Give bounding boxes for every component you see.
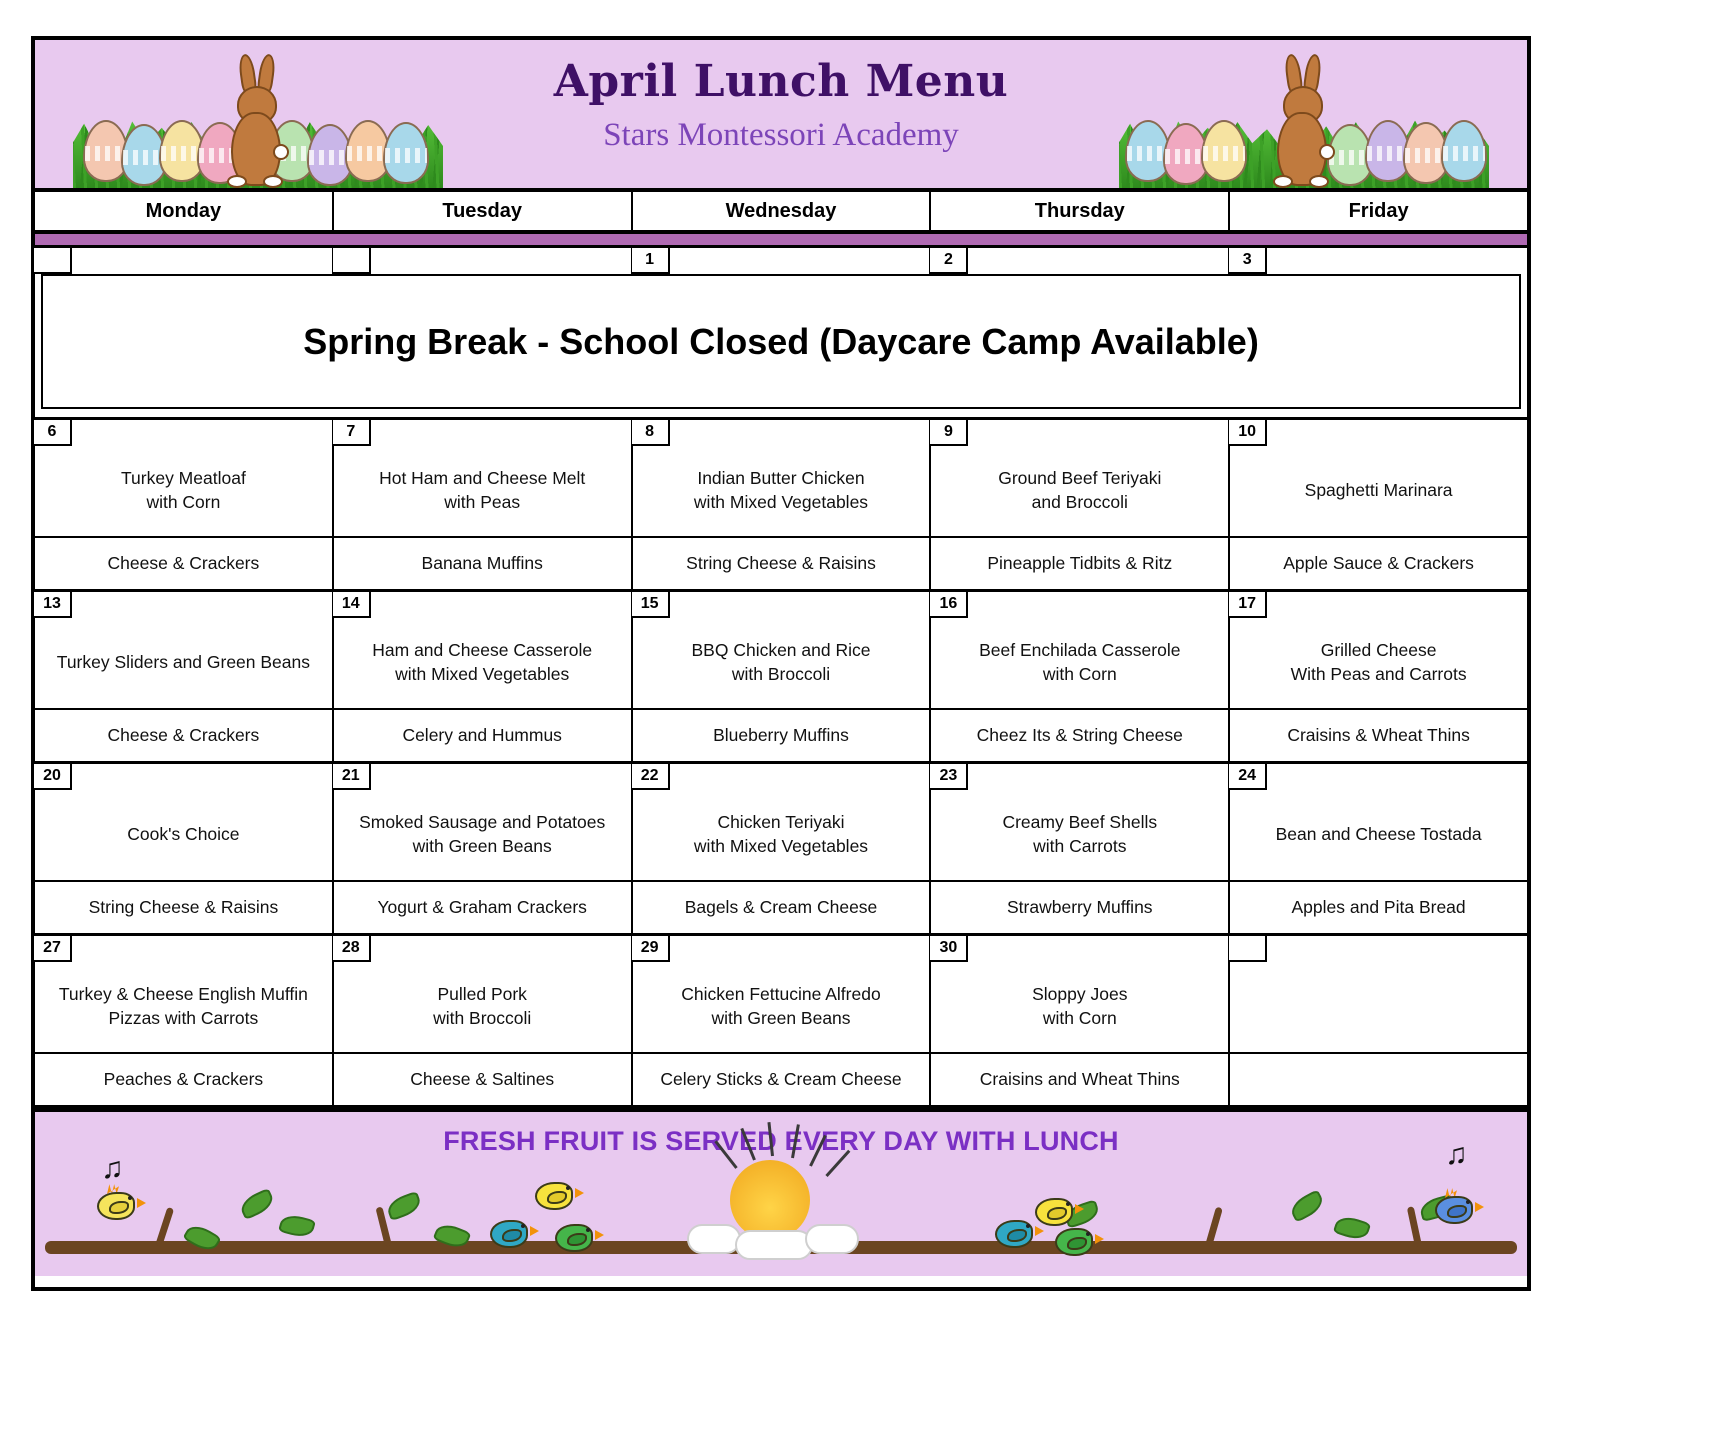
snack-text: String Cheese & Raisins <box>35 880 332 933</box>
snack-text: Cheese & Crackers <box>35 536 332 589</box>
meal-text: Turkey Sliders and Green Beans <box>35 618 332 708</box>
bird-icon <box>1435 1192 1479 1228</box>
date-number: 10 <box>1229 420 1267 446</box>
day-cell-22: 22 Chicken Teriyaki with Mixed Vegetable… <box>633 764 932 933</box>
day-cell-2: 2 <box>931 248 1230 274</box>
week-row-spring-break: 1 2 3 Spring Break - School Closed (Dayc… <box>35 248 1527 420</box>
meal-text: Bean and Cheese Tostada <box>1230 790 1527 880</box>
date-number: 20 <box>34 764 72 790</box>
meal-text: Pulled Pork with Broccoli <box>334 962 631 1052</box>
snack-text: Strawberry Muffins <box>931 880 1228 933</box>
leaf-icon <box>385 1191 424 1221</box>
day-cell-9: 9 Ground Beef Teriyaki and Broccoli Pine… <box>931 420 1230 589</box>
cloud-icon <box>687 1224 741 1254</box>
bunny-icon <box>1269 68 1335 186</box>
bird-icon <box>555 1220 599 1256</box>
date-number <box>34 248 72 274</box>
day-cell-17: 17 Grilled Cheese With Peas and Carrots … <box>1230 592 1527 761</box>
day-cell-30: 30 Sloppy Joes with Corn Craisins and Wh… <box>931 936 1230 1105</box>
day-cell-23: 23 Creamy Beef Shells with Carrots Straw… <box>931 764 1230 933</box>
meal-text: Indian Butter Chicken with Mixed Vegetab… <box>633 446 930 536</box>
snack-text: Banana Muffins <box>334 536 631 589</box>
meal-text: Spaghetti Marinara <box>1230 446 1527 536</box>
meal-text: Ground Beef Teriyaki and Broccoli <box>931 446 1228 536</box>
meal-text: Turkey & Cheese English Muffin Pizzas wi… <box>35 962 332 1052</box>
date-number <box>333 248 371 274</box>
day-cell-empty <box>35 248 334 274</box>
cloud-icon <box>805 1224 859 1254</box>
meal-text: Cook's Choice <box>35 790 332 880</box>
day-cell-3: 3 <box>1230 248 1527 274</box>
meal-text: Creamy Beef Shells with Carrots <box>931 790 1228 880</box>
music-note-icon: ♫ <box>101 1154 124 1184</box>
snack-text: Peaches & Crackers <box>35 1052 332 1105</box>
bird-icon <box>97 1188 141 1224</box>
date-number: 23 <box>930 764 968 790</box>
date-number: 21 <box>333 764 371 790</box>
date-number: 27 <box>34 936 72 962</box>
day-cell-14: 14 Ham and Cheese Casserole with Mixed V… <box>334 592 633 761</box>
bird-icon <box>1055 1224 1099 1260</box>
weekday-header-row: Monday Tuesday Wednesday Thursday Friday <box>35 192 1527 234</box>
meal-text: Turkey Meatloaf with Corn <box>35 446 332 536</box>
bird-icon <box>490 1216 534 1252</box>
date-number: 24 <box>1229 764 1267 790</box>
weekday-header-monday: Monday <box>35 192 334 230</box>
day-cell-6: 6 Turkey Meatloaf with Corn Cheese & Cra… <box>35 420 334 589</box>
meal-text: Ham and Cheese Casserole with Mixed Vege… <box>334 618 631 708</box>
meal-text: Sloppy Joes with Corn <box>931 962 1228 1052</box>
bird-icon <box>995 1216 1039 1252</box>
day-cell-10: 10 Spaghetti Marinara Apple Sauce & Crac… <box>1230 420 1527 589</box>
meal-text: Grilled Cheese With Peas and Carrots <box>1230 618 1527 708</box>
day-cell-24: 24 Bean and Cheese Tostada Apples and Pi… <box>1230 764 1527 933</box>
day-cell-21: 21 Smoked Sausage and Potatoes with Gree… <box>334 764 633 933</box>
day-cell-16: 16 Beef Enchilada Casserole with Corn Ch… <box>931 592 1230 761</box>
day-cell-8: 8 Indian Butter Chicken with Mixed Veget… <box>633 420 932 589</box>
day-cell-empty <box>1230 936 1527 1105</box>
date-number: 29 <box>632 936 670 962</box>
leaf-icon <box>278 1212 316 1240</box>
date-number: 7 <box>333 420 371 446</box>
menu-page: April Lunch Menu Stars Montessori Academ… <box>31 36 1531 1291</box>
fresh-fruit-notice: FRESH FRUIT IS SERVED EVERY DAY WITH LUN… <box>35 1126 1527 1157</box>
weekday-header-friday: Friday <box>1230 192 1527 230</box>
day-cell-28: 28 Pulled Pork with Broccoli Cheese & Sa… <box>334 936 633 1105</box>
date-number: 28 <box>333 936 371 962</box>
date-number: 6 <box>34 420 72 446</box>
weekday-header-tuesday: Tuesday <box>334 192 633 230</box>
meal-text: Beef Enchilada Casserole with Corn <box>931 618 1228 708</box>
snack-text: Blueberry Muffins <box>633 708 930 761</box>
date-number: 9 <box>930 420 968 446</box>
snack-text: Celery Sticks & Cream Cheese <box>633 1052 930 1105</box>
day-cell-1: 1 <box>633 248 932 274</box>
day-cell-empty <box>334 248 633 274</box>
sun-icon <box>730 1160 810 1240</box>
date-number <box>1229 936 1267 962</box>
easter-decoration-right <box>1119 66 1489 188</box>
snack-text: Yogurt & Graham Crackers <box>334 880 631 933</box>
week-row-3: 20 Cook's Choice String Cheese & Raisins… <box>35 764 1527 936</box>
leaf-icon <box>1333 1213 1372 1243</box>
leaf-icon <box>1287 1189 1326 1223</box>
date-number: 3 <box>1229 248 1267 274</box>
snack-text <box>1230 1052 1527 1105</box>
snack-text: Bagels & Cream Cheese <box>633 880 930 933</box>
day-cell-27: 27 Turkey & Cheese English Muffin Pizzas… <box>35 936 334 1105</box>
page-footer: FRESH FRUIT IS SERVED EVERY DAY WITH LUN… <box>35 1108 1527 1276</box>
page-header: April Lunch Menu Stars Montessori Academ… <box>35 40 1527 192</box>
meal-text <box>1230 962 1527 1052</box>
day-cell-13: 13 Turkey Sliders and Green Beans Cheese… <box>35 592 334 761</box>
easter-egg-icon <box>1441 120 1487 182</box>
week-row-2: 13 Turkey Sliders and Green Beans Cheese… <box>35 592 1527 764</box>
day-cell-20: 20 Cook's Choice String Cheese & Raisins <box>35 764 334 933</box>
date-number: 22 <box>632 764 670 790</box>
day-cell-29: 29 Chicken Fettucine Alfredo with Green … <box>633 936 932 1105</box>
snack-text: Craisins & Wheat Thins <box>1230 708 1527 761</box>
snack-text: Cheez Its & String Cheese <box>931 708 1228 761</box>
day-cell-7: 7 Hot Ham and Cheese Melt with Peas Bana… <box>334 420 633 589</box>
date-number: 14 <box>333 592 371 618</box>
date-number: 16 <box>930 592 968 618</box>
bird-icon <box>535 1178 579 1214</box>
snack-text: Cheese & Crackers <box>35 708 332 761</box>
snack-text: Pineapple Tidbits & Ritz <box>931 536 1228 589</box>
music-note-icon: ♫ <box>1445 1140 1468 1170</box>
meal-text: Chicken Fettucine Alfredo with Green Bea… <box>633 962 930 1052</box>
snack-text: Celery and Hummus <box>334 708 631 761</box>
accent-band <box>35 234 1527 248</box>
week-row-1: 6 Turkey Meatloaf with Corn Cheese & Cra… <box>35 420 1527 592</box>
date-number: 13 <box>34 592 72 618</box>
day-cell-15: 15 BBQ Chicken and Rice with Broccoli Bl… <box>633 592 932 761</box>
date-number: 15 <box>632 592 670 618</box>
date-number: 2 <box>930 248 968 274</box>
cloud-icon <box>735 1230 813 1260</box>
date-number: 1 <box>632 248 670 274</box>
date-number: 8 <box>632 420 670 446</box>
meal-text: Chicken Teriyaki with Mixed Vegetables <box>633 790 930 880</box>
snack-text: Craisins and Wheat Thins <box>931 1052 1228 1105</box>
date-number: 30 <box>930 936 968 962</box>
weekday-header-thursday: Thursday <box>931 192 1230 230</box>
weekday-header-wednesday: Wednesday <box>633 192 932 230</box>
snack-text: String Cheese & Raisins <box>633 536 930 589</box>
leaf-icon <box>237 1188 276 1220</box>
spring-break-notice: Spring Break - School Closed (Daycare Ca… <box>41 274 1521 409</box>
meal-text: Smoked Sausage and Potatoes with Green B… <box>334 790 631 880</box>
week-row-4: 27 Turkey & Cheese English Muffin Pizzas… <box>35 936 1527 1108</box>
date-number: 17 <box>1229 592 1267 618</box>
meal-text: BBQ Chicken and Rice with Broccoli <box>633 618 930 708</box>
snack-text: Apples and Pita Bread <box>1230 880 1527 933</box>
meal-text: Hot Ham and Cheese Melt with Peas <box>334 446 631 536</box>
snack-text: Cheese & Saltines <box>334 1052 631 1105</box>
snack-text: Apple Sauce & Crackers <box>1230 536 1527 589</box>
